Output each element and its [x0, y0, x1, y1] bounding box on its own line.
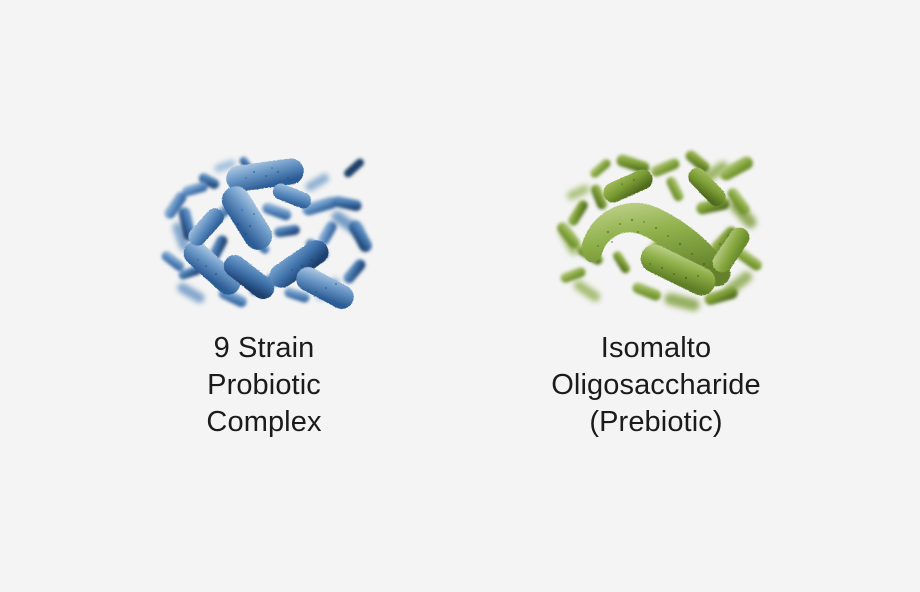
ingredient-caption-prebiotic: Isomalto Oligosaccharide (Prebiotic)	[551, 330, 760, 441]
caption-line: Complex	[206, 404, 321, 441]
ingredient-panel-probiotic: 9 Strain Probiotic Complex	[74, 148, 454, 441]
caption-line: Oligosaccharide	[551, 367, 760, 404]
ingredient-panel-prebiotic: Isomalto Oligosaccharide (Prebiotic)	[466, 148, 846, 441]
product-ingredients-graphic: 9 Strain Probiotic Complex	[0, 0, 920, 592]
caption-line: (Prebiotic)	[551, 404, 760, 441]
green-bacteria-cluster-illustration	[546, 148, 766, 316]
blue-bacteria-cluster-illustration	[154, 148, 374, 316]
caption-line: Isomalto	[551, 330, 760, 367]
caption-line: Probiotic	[206, 367, 321, 404]
caption-line: 9 Strain	[206, 330, 321, 367]
ingredient-columns: 9 Strain Probiotic Complex	[0, 0, 920, 592]
ingredient-caption-probiotic: 9 Strain Probiotic Complex	[206, 330, 321, 441]
